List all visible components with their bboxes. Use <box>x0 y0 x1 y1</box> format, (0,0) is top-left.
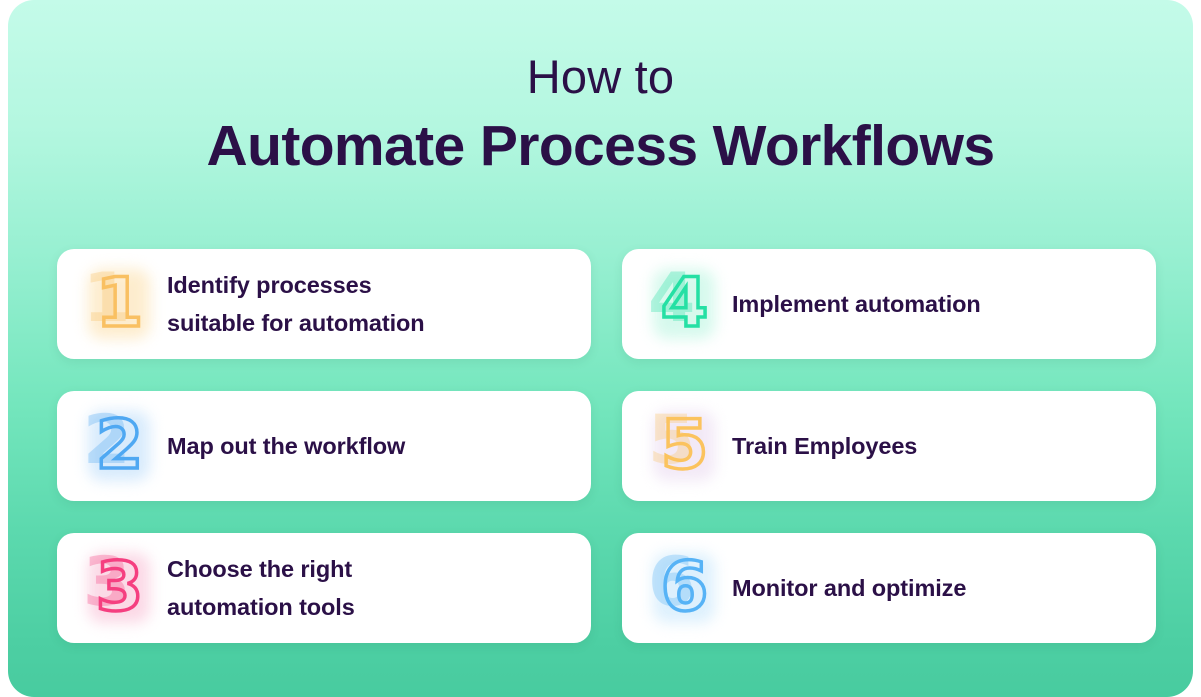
step-number-2: 2 2 <box>83 407 155 485</box>
step-label-6: Monitor and optimize <box>732 569 966 607</box>
step-label-4: Implement automation <box>732 285 981 323</box>
step-number-5: 5 5 <box>648 407 720 485</box>
step-number-1: 1 1 <box>83 265 155 343</box>
step-number-4: 4 4 <box>648 265 720 343</box>
number-outline-3: 3 <box>96 554 142 622</box>
infographic-root: How to Automate Process Workflows 1 1 Id… <box>0 0 1201 697</box>
number-outline-4: 4 <box>661 270 707 338</box>
heading-eyebrow: How to <box>8 48 1193 106</box>
step-card-3: 3 3 Choose the right automation tools <box>57 533 591 643</box>
heading-block: How to Automate Process Workflows <box>8 48 1193 180</box>
step-label-5: Train Employees <box>732 427 917 465</box>
step-card-4: 4 4 Implement automation <box>622 249 1156 359</box>
page-title: Automate Process Workflows <box>8 112 1193 180</box>
infographic-canvas: How to Automate Process Workflows 1 1 Id… <box>8 0 1193 697</box>
step-label-3: Choose the right automation tools <box>167 550 355 626</box>
step-label-1: Identify processes suitable for automati… <box>167 266 425 342</box>
step-number-6: 6 6 <box>648 549 720 627</box>
number-outline-2: 2 <box>96 412 142 480</box>
number-outline-1: 1 <box>96 270 142 338</box>
steps-grid: 1 1 Identify processes suitable for auto… <box>57 249 1156 643</box>
step-card-1: 1 1 Identify processes suitable for auto… <box>57 249 591 359</box>
number-outline-5: 5 <box>661 412 707 480</box>
number-outline-6: 6 <box>661 554 707 622</box>
step-card-6: 6 6 Monitor and optimize <box>622 533 1156 643</box>
step-number-3: 3 3 <box>83 549 155 627</box>
step-label-2: Map out the workflow <box>167 427 405 465</box>
step-card-2: 2 2 Map out the workflow <box>57 391 591 501</box>
step-card-5: 5 5 Train Employees <box>622 391 1156 501</box>
